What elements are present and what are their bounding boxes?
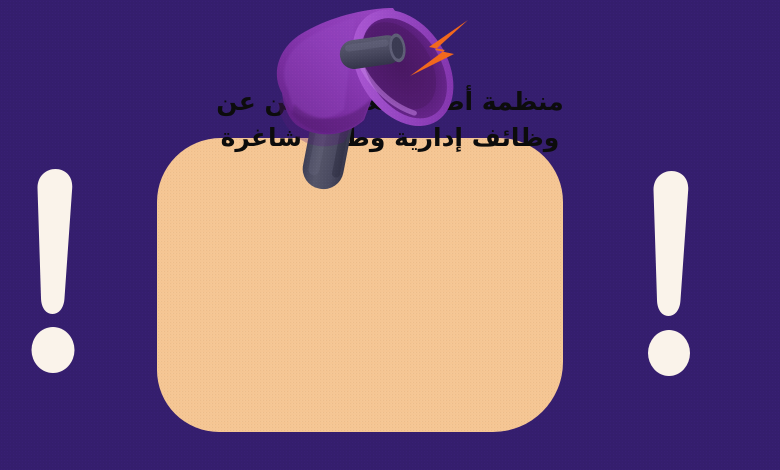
exclamation-mark-left (26, 168, 86, 378)
exclamation-mark-icon (26, 168, 86, 380)
exclamation-mark-right (644, 170, 704, 380)
lightning-bolt (404, 14, 476, 84)
lightning-bolt-icon (404, 14, 476, 84)
exclamation-mark-icon (644, 170, 704, 382)
announcement-poster: منظمة أطباء العالم تعلن عن وظائف إدارية … (0, 0, 780, 470)
